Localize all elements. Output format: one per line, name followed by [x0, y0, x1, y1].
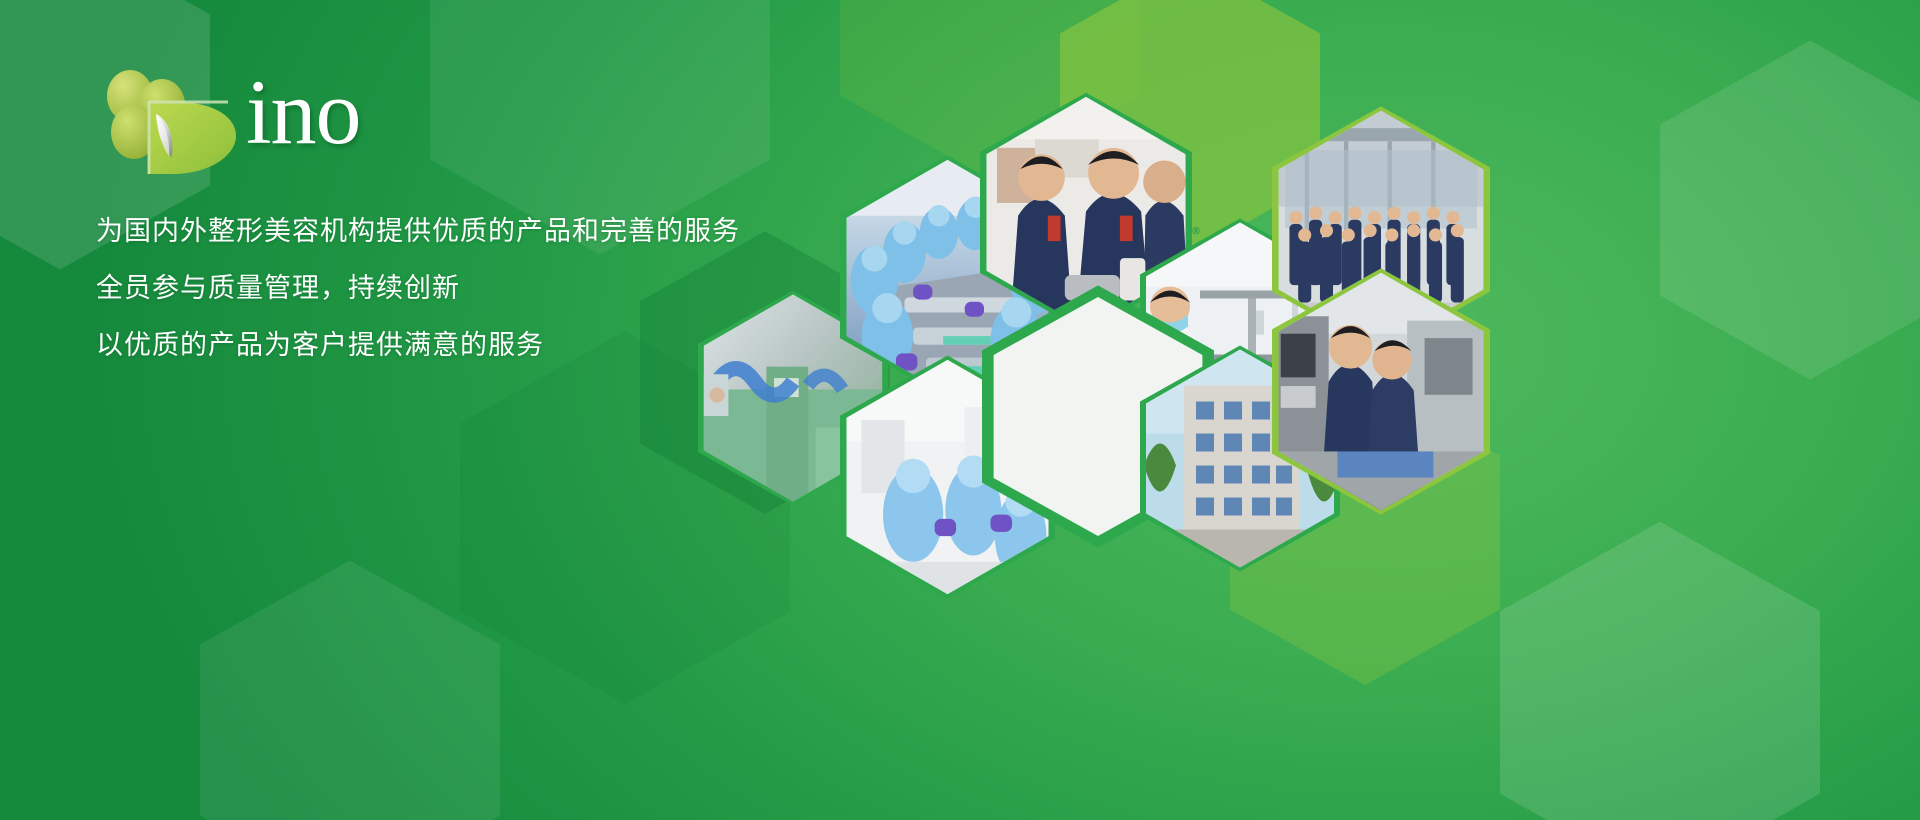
hero-banner: ino 为国内外整形美容机构提供优质的产品和完善的服务 全员参与质量管理，持续创… — [0, 0, 1920, 820]
dino-logo: ino — [96, 62, 426, 174]
banner-left-content: ino 为国内外整形美容机构提供优质的产品和完善的服务 全员参与质量管理，持续创… — [96, 62, 856, 359]
slogan-list: 为国内外整形美容机构提供优质的产品和完善的服务 全员参与质量管理，持续创新 以优… — [96, 218, 856, 359]
logo-wordmark: ino — [246, 66, 361, 158]
leaf-d-icon — [96, 62, 271, 174]
slogan-line-3: 以优质的产品为客户提供满意的服务 — [96, 332, 856, 359]
slogan-line-1: 为国内外整形美容机构提供优质的产品和完善的服务 — [96, 218, 856, 245]
slogan-line-2: 全员参与质量管理，持续创新 — [96, 275, 856, 302]
photo-hex-cnc-operators — [1272, 268, 1490, 515]
hexagon-bg-4 — [200, 560, 500, 820]
